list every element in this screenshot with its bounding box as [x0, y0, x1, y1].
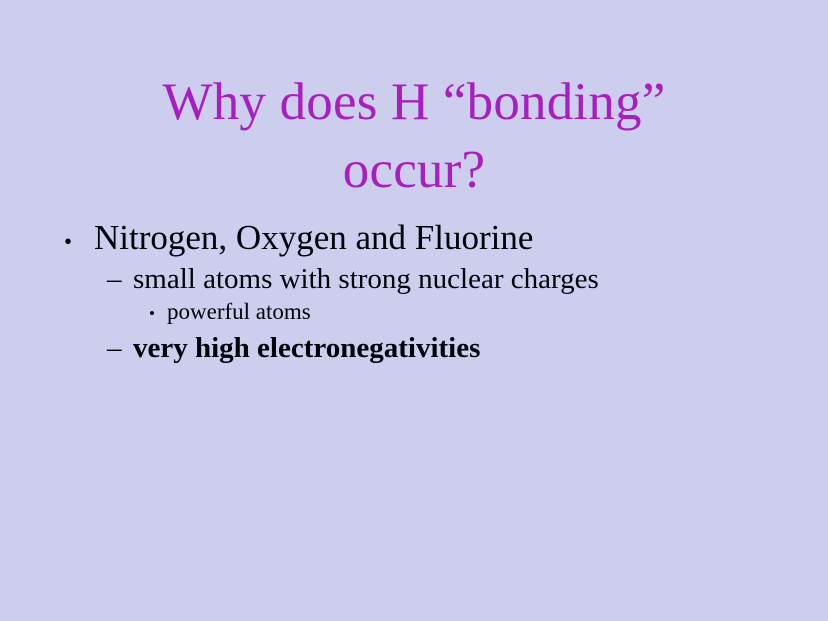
- bullet-item-label: very high electronegativities: [133, 332, 480, 366]
- slide-title: Why does H “bonding” occur?: [50, 68, 778, 206]
- slide-body-content: •Nitrogen, Oxygen and Fluorine–small ato…: [0, 218, 828, 369]
- bullet-item-label: Nitrogen, Oxygen and Fluorine: [94, 218, 533, 259]
- bullet-item-label: small atoms with strong nuclear charges: [133, 263, 599, 297]
- bullet-item-level-3: •powerful atoms: [0, 299, 828, 326]
- round-bullet-icon: •: [64, 230, 94, 253]
- bullet-item-level-2: –small atoms with strong nuclear charges: [0, 263, 828, 297]
- round-bullet-icon: •: [149, 305, 167, 322]
- dash-bullet-icon: –: [107, 334, 133, 363]
- bullet-item-label: powerful atoms: [167, 299, 311, 326]
- bullet-item-level-1: •Nitrogen, Oxygen and Fluorine: [0, 218, 828, 259]
- dash-bullet-icon: –: [107, 265, 133, 294]
- presentation-slide: Why does H “bonding” occur? •Nitrogen, O…: [0, 0, 828, 621]
- bullet-item-level-2: –very high electronegativities: [0, 332, 828, 366]
